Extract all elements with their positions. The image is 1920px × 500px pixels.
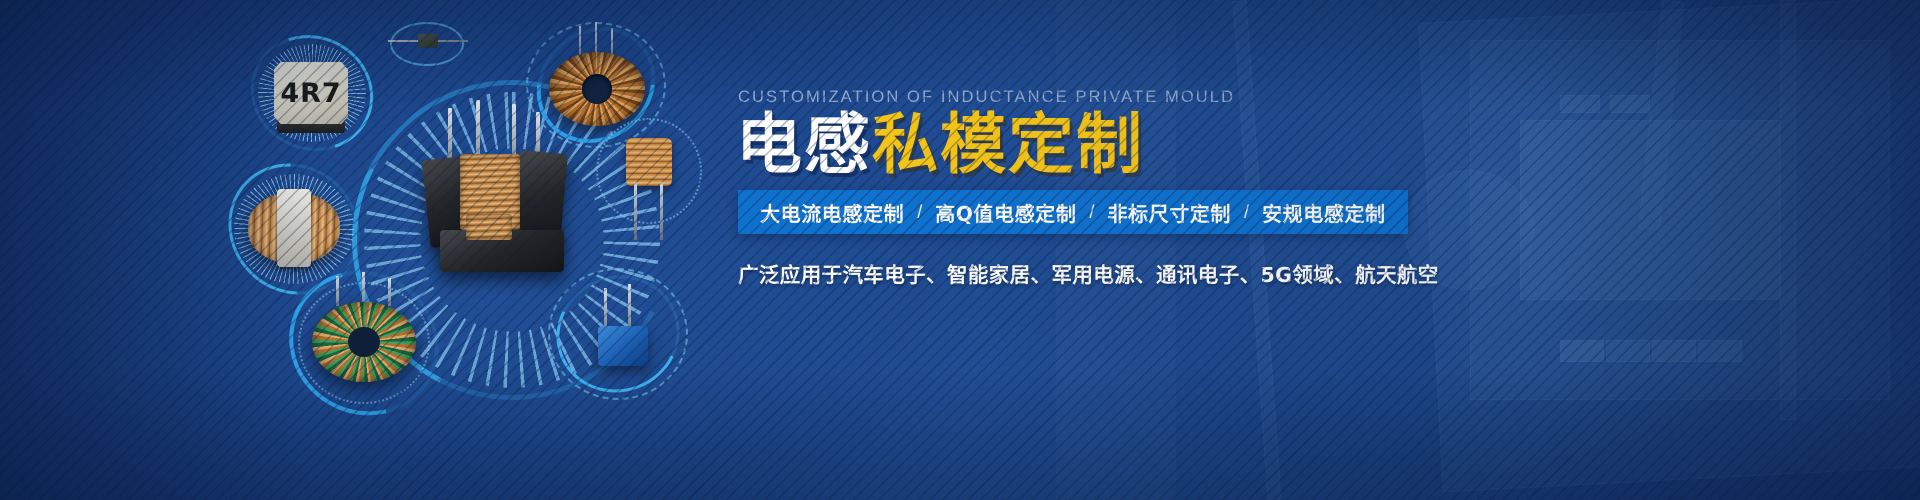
product-drum-core-inductor	[612, 132, 686, 242]
bobbin-band	[277, 189, 312, 267]
toroid-a-hole	[582, 74, 613, 104]
bead-body	[418, 34, 438, 48]
headline-part-white: 电感	[736, 106, 872, 183]
product-smd-power-inductor-4r7: 4R7	[274, 62, 348, 124]
blue-inductor-lead-2	[628, 284, 631, 332]
feature-item-1[interactable]: 高Q值电感定制	[935, 198, 1076, 227]
toroid-b-lead-3	[388, 278, 391, 306]
choke-copper-winding-lower	[466, 214, 512, 240]
banner-headline: 电感私模定制	[736, 112, 1144, 178]
toroid-a-lead-1	[579, 26, 581, 56]
feature-bar[interactable]: 大电流电感定制 / 高Q值电感定制 / 非标尺寸定制 / 安规电感定制	[738, 190, 1408, 234]
product-collage: 4R7	[0, 0, 740, 500]
drum-coil	[626, 138, 672, 186]
feature-separator-2: /	[1231, 202, 1262, 223]
feature-item-0[interactable]: 大电流电感定制	[760, 198, 904, 227]
product-toroidal-current-sense-inductor	[312, 302, 416, 382]
toroid-b-lead-2	[362, 272, 365, 306]
toroid-a-lead-3	[611, 28, 613, 56]
product-ferrite-bead-on-wire	[390, 22, 464, 66]
product-pot-core-bobbin-inductor	[248, 192, 340, 264]
drum-lead-1	[634, 182, 637, 240]
blue-inductor-body	[598, 326, 648, 366]
toroid-b-hole	[348, 327, 379, 357]
feature-item-2[interactable]: 非标尺寸定制	[1107, 198, 1231, 227]
banner-content: CUSTOMIZATION OF INDUCTANCE PRIVATE MOUL…	[736, 0, 1920, 500]
feature-item-3[interactable]: 安规电感定制	[1262, 198, 1386, 227]
product-radial-lead-blue-inductor	[576, 296, 654, 388]
product-common-mode-choke-cluster	[404, 110, 604, 278]
drum-lead-2	[660, 182, 663, 240]
feature-separator-0: /	[904, 202, 935, 223]
toroid-b-lead-1	[336, 276, 339, 306]
banner-description: 广泛应用于汽车电子、智能家居、军用电源、通讯电子、5G领域、航天航空	[738, 258, 1439, 288]
promo-banner: 4R7	[0, 0, 1920, 500]
toroid-a-lead-2	[595, 22, 597, 56]
feature-separator-1: /	[1076, 202, 1107, 223]
headline-part-yellow: 私模定制	[872, 106, 1144, 183]
banner-eyebrow-english: CUSTOMIZATION OF INDUCTANCE PRIVATE MOUL…	[738, 88, 1235, 107]
smd-marking-code: 4R7	[274, 62, 348, 124]
